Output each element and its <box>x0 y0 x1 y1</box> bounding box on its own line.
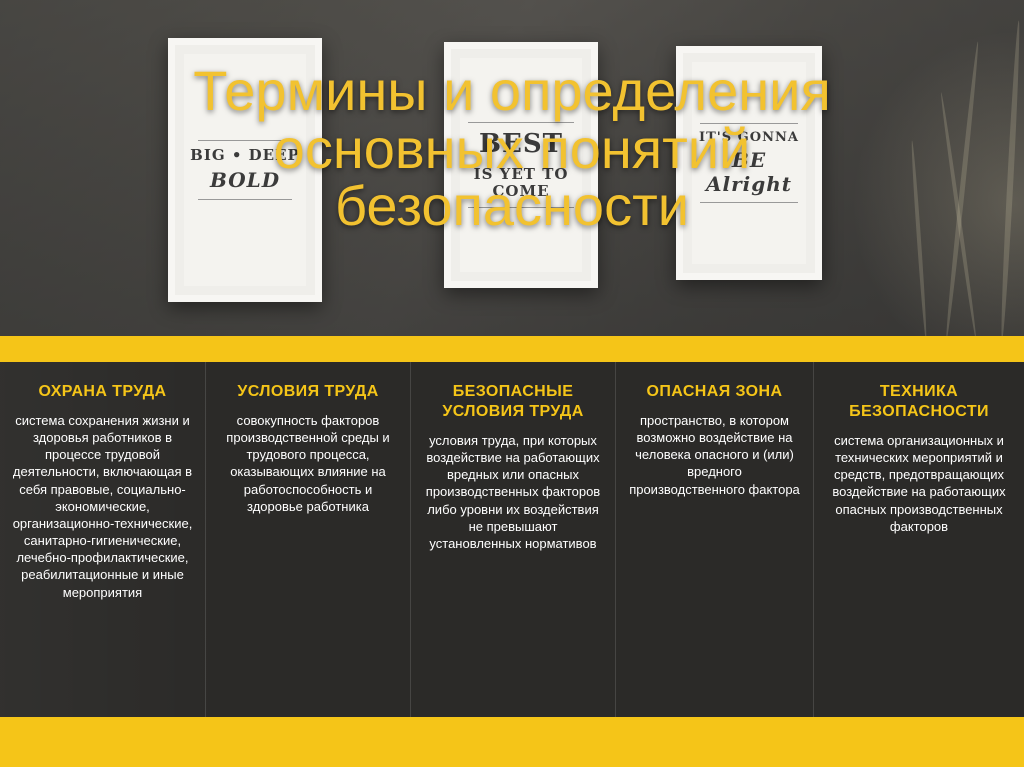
definition-column-3: БЕЗОПАСНЫЕ УСЛОВИЯ ТРУДА условия труда, … <box>410 362 615 717</box>
definition-column-2: УСЛОВИЯ ТРУДА совокупность факторов прои… <box>205 362 410 717</box>
arrow-down-icon <box>291 336 325 353</box>
arrow-down-icon <box>86 336 120 353</box>
arrow-down-icon <box>496 336 530 353</box>
column-1-text: система сохранения жизни и здоровья рабо… <box>12 412 193 601</box>
definition-column-5: ТЕХНИКА БЕЗОПАСНОСТИ система организацио… <box>813 362 1024 717</box>
page-title: Термины и определения основных понятий б… <box>0 62 1024 235</box>
column-2-heading: УСЛОВИЯ ТРУДА <box>214 382 402 402</box>
definitions-row: ОХРАНА ТРУДА система сохранения жизни и … <box>0 362 1024 717</box>
column-5-text: система организационных и технических ме… <box>826 432 1012 535</box>
column-4-heading: ОПАСНАЯ ЗОНА <box>624 382 805 402</box>
column-3-text: условия труда, при которых воздействие н… <box>423 432 603 552</box>
title-line-1: Термины и определения <box>0 62 1024 120</box>
column-4-text: пространство, в котором возможно воздейс… <box>628 412 801 498</box>
definition-column-4: ОПАСНАЯ ЗОНА пространство, в котором воз… <box>615 362 813 717</box>
slide: BIG • DEEP BOLD BEST IS YET TO COME <box>0 0 1024 767</box>
column-5-heading: ТЕХНИКА БЕЗОПАСНОСТИ <box>822 382 1016 422</box>
column-2-text: совокупность факторов производственной с… <box>218 412 398 515</box>
title-line-2: основных понятий <box>0 120 1024 178</box>
column-1-heading: ОХРАНА ТРУДА <box>8 382 197 402</box>
column-3-heading: БЕЗОПАСНЫЕ УСЛОВИЯ ТРУДА <box>419 382 607 422</box>
accent-bar-bottom <box>0 717 1024 767</box>
title-line-3: безопасности <box>0 177 1024 235</box>
arrow-down-icon <box>902 336 936 353</box>
arrow-down-icon <box>698 336 732 353</box>
definition-column-1: ОХРАНА ТРУДА система сохранения жизни и … <box>0 362 205 717</box>
